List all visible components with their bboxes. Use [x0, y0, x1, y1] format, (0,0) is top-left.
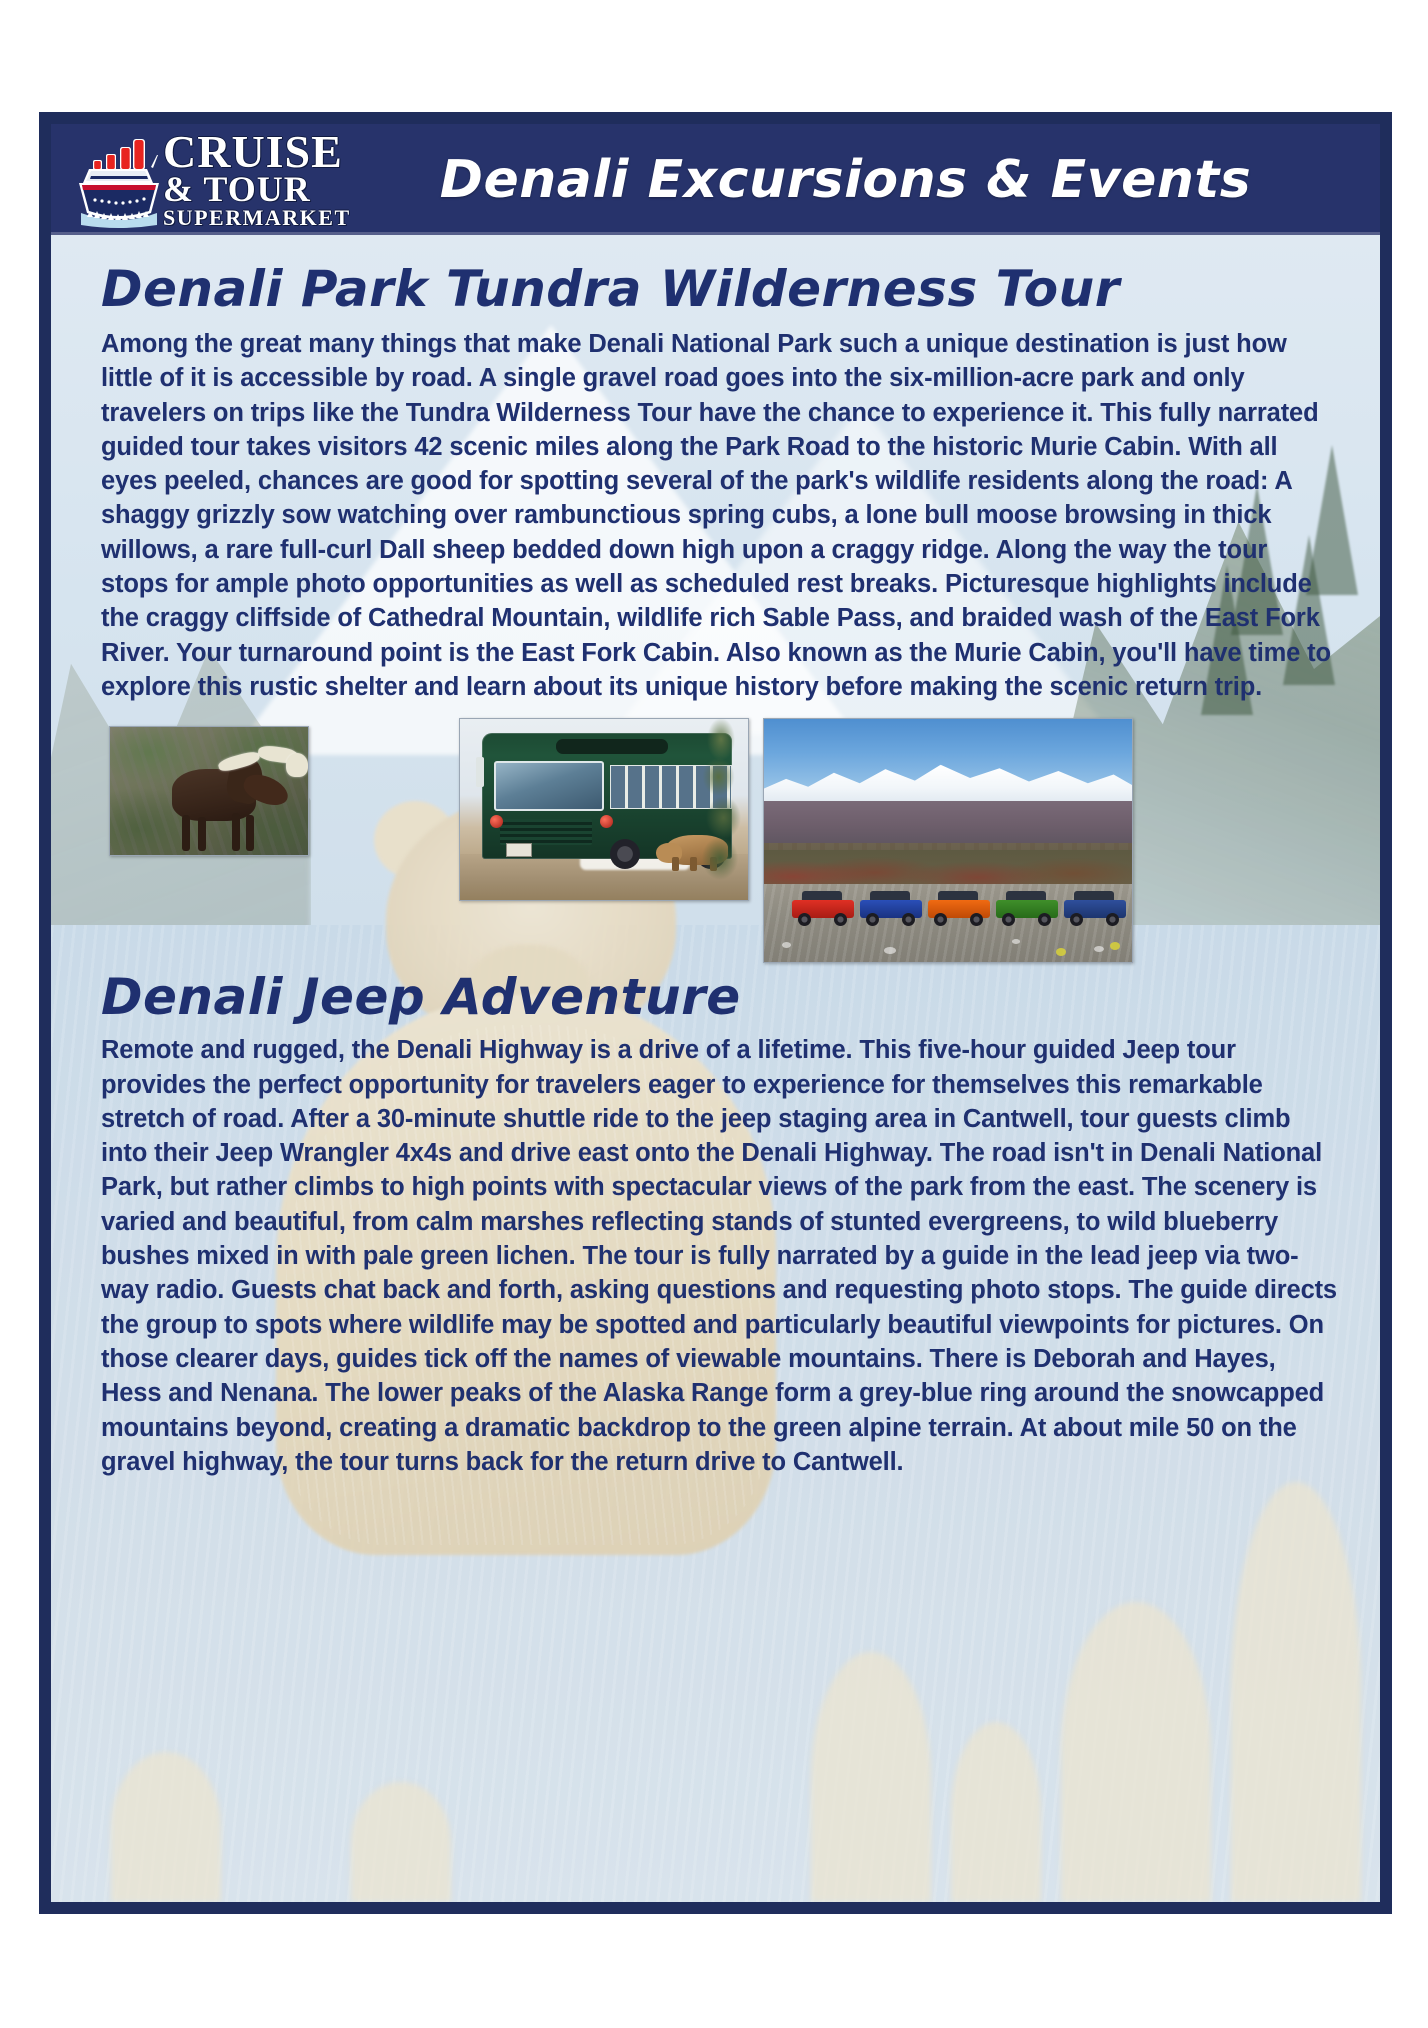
green-denali-tour-bus-with-grizzly-bear-photo: [459, 718, 749, 901]
cruise-ship-icon: [73, 133, 165, 229]
section-body-tundra-wilderness-tour: Among the great many things that make De…: [87, 327, 1348, 704]
logo-line-1: CRUISE: [163, 130, 373, 174]
logo-line-3: SUPERMARKET: [163, 207, 373, 228]
flyer-header: CRUISE & TOUR SUPERMARKET Denali Excursi…: [51, 124, 1380, 235]
photo-row: [87, 718, 1348, 963]
logo-wordmark: CRUISE & TOUR SUPERMARKET: [163, 130, 373, 228]
flyer-sheet: CRUISE & TOUR SUPERMARKET Denali Excursi…: [40, 113, 1391, 1913]
section-heading-tundra-wilderness-tour: Denali Park Tundra Wilderness Tour: [87, 245, 1348, 327]
company-logo[interactable]: CRUISE & TOUR SUPERMARKET: [51, 124, 351, 235]
logo-line-2: & TOUR: [163, 172, 373, 207]
bull-moose-in-brush-photo: [109, 726, 309, 856]
flyer-page: CRUISE & TOUR SUPERMARKET Denali Excursi…: [0, 0, 1428, 2028]
page-title: Denali Excursions & Events: [351, 150, 1380, 210]
flyer-content: Denali Park Tundra Wilderness Tour Among…: [51, 235, 1380, 1902]
jeep-wranglers-on-denali-highway-photo: [763, 718, 1133, 963]
section-heading-jeep-adventure: Denali Jeep Adventure: [87, 963, 1348, 1033]
section-body-jeep-adventure: Remote and rugged, the Denali Highway is…: [87, 1033, 1348, 1479]
